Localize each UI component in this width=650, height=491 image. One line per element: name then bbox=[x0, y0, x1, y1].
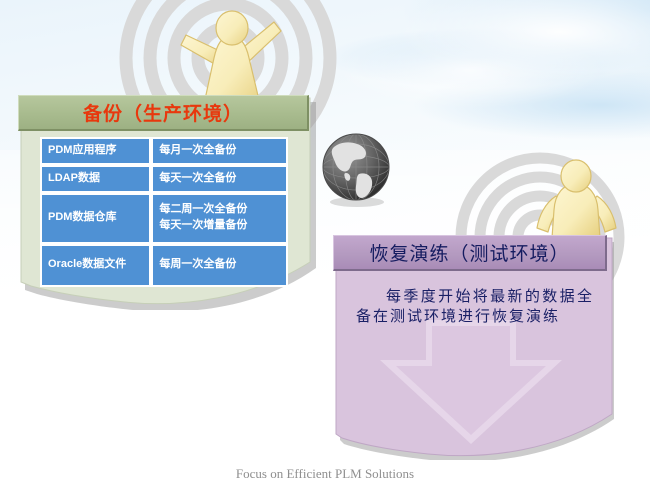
table-cell-value: 每二周一次全备份 每天一次增量备份 bbox=[151, 193, 288, 244]
table-cell-label: PDM应用程序 bbox=[40, 137, 151, 165]
backup-schedule-table: PDM应用程序 每月一次全备份 LDAP数据 每天一次全备份 PDM数据仓库 每… bbox=[40, 137, 288, 287]
table-row: LDAP数据 每天一次全备份 bbox=[40, 165, 288, 193]
table-cell-value: 每天一次全备份 bbox=[151, 165, 288, 193]
table-row: PDM应用程序 每月一次全备份 bbox=[40, 137, 288, 165]
table-cell-value: 每月一次全备份 bbox=[151, 137, 288, 165]
slide-canvas: 备份（生产环境） PDM应用程序 每月一次全备份 LDAP数据 每天一次全备份 … bbox=[0, 0, 650, 491]
table-row: Oracle数据文件 每周一次全备份 bbox=[40, 244, 288, 287]
slide-footer: Focus on Efficient PLM Solutions bbox=[0, 466, 650, 482]
table-cell-label: LDAP数据 bbox=[40, 165, 151, 193]
table-cell-label: Oracle数据文件 bbox=[40, 244, 151, 287]
backup-panel-title: 备份（生产环境） bbox=[18, 95, 309, 131]
backup-panel: 备份（生产环境） PDM应用程序 每月一次全备份 LDAP数据 每天一次全备份 … bbox=[13, 92, 316, 310]
table-cell-label: PDM数据仓库 bbox=[40, 193, 151, 244]
recovery-panel: 恢复演练（测试环境） 每季度开始将最新的数据全备在测试环境进行恢复演练 bbox=[328, 232, 614, 460]
table-row: PDM数据仓库 每二周一次全备份 每天一次增量备份 bbox=[40, 193, 288, 244]
table-cell-value: 每周一次全备份 bbox=[151, 244, 288, 287]
recovery-panel-body-text: 每季度开始将最新的数据全备在测试环境进行恢复演练 bbox=[356, 287, 594, 327]
globe-icon bbox=[315, 128, 397, 210]
recovery-panel-title: 恢复演练（测试环境） bbox=[333, 235, 607, 271]
